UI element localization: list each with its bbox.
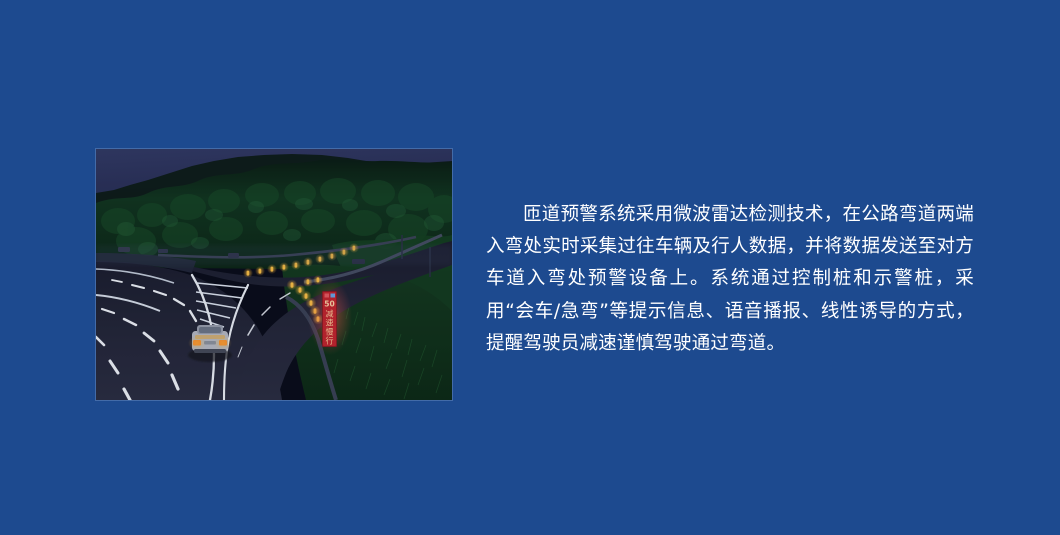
night-tint (96, 149, 452, 400)
slide-canvas: 50 减 速 慢 行 (0, 0, 1060, 535)
highway-curve-night-photo: 50 减 速 慢 行 (96, 149, 452, 400)
body-paragraph: 匝道预警系统采用微波雷达检测技术，在公路弯道两端入弯处实时采集过往车辆及行人数据… (486, 199, 974, 361)
photo-illustration: 50 减 速 慢 行 (96, 149, 452, 400)
